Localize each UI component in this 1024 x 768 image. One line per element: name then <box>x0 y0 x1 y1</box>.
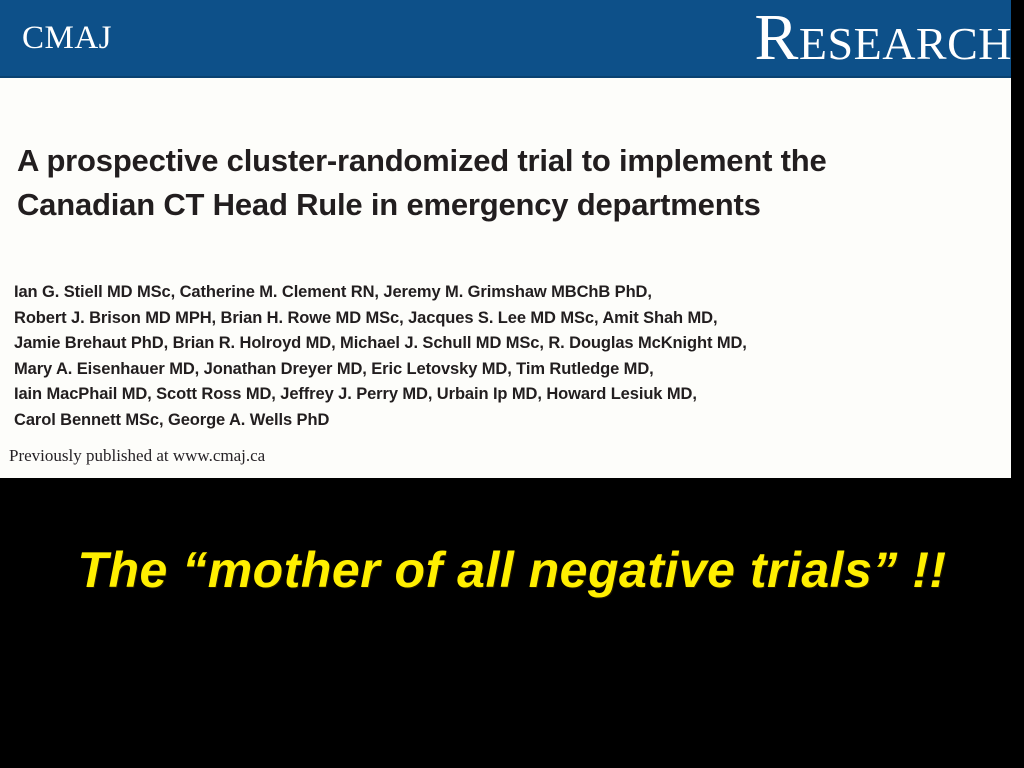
author-line: Ian G. Stiell MD MSc, Catherine M. Cleme… <box>14 280 999 306</box>
cmaj-logo: CMAJ <box>22 21 112 55</box>
banner-section-title: Research <box>754 2 1011 74</box>
article-title: A prospective cluster-randomized trial t… <box>17 139 977 227</box>
article-title-line-2: Canadian CT Head Rule in emergency depar… <box>17 183 977 227</box>
article-page: CMAJ Research A prospective cluster-rand… <box>0 0 1011 478</box>
slide-caption: The “mother of all negative trials” !! <box>0 541 1024 599</box>
caption-band: The “mother of all negative trials” !! <box>0 478 1024 768</box>
previously-published-note: Previously published at www.cmaj.ca <box>9 446 265 466</box>
author-line: Iain MacPhail MD, Scott Ross MD, Jeffrey… <box>14 382 999 408</box>
slide-canvas: CMAJ Research A prospective cluster-rand… <box>0 0 1024 768</box>
article-body: A prospective cluster-randomized trial t… <box>0 78 1011 478</box>
author-line: Mary A. Eisenhauer MD, Jonathan Dreyer M… <box>14 357 999 383</box>
author-list: Ian G. Stiell MD MSc, Catherine M. Cleme… <box>14 280 999 434</box>
journal-banner: CMAJ Research <box>0 0 1011 78</box>
author-line: Jamie Brehaut PhD, Brian R. Holroyd MD, … <box>14 331 999 357</box>
author-line: Robert J. Brison MD MPH, Brian H. Rowe M… <box>14 306 999 332</box>
article-title-line-1: A prospective cluster-randomized trial t… <box>17 139 977 183</box>
author-line: Carol Bennett MSc, George A. Wells PhD <box>14 408 999 434</box>
